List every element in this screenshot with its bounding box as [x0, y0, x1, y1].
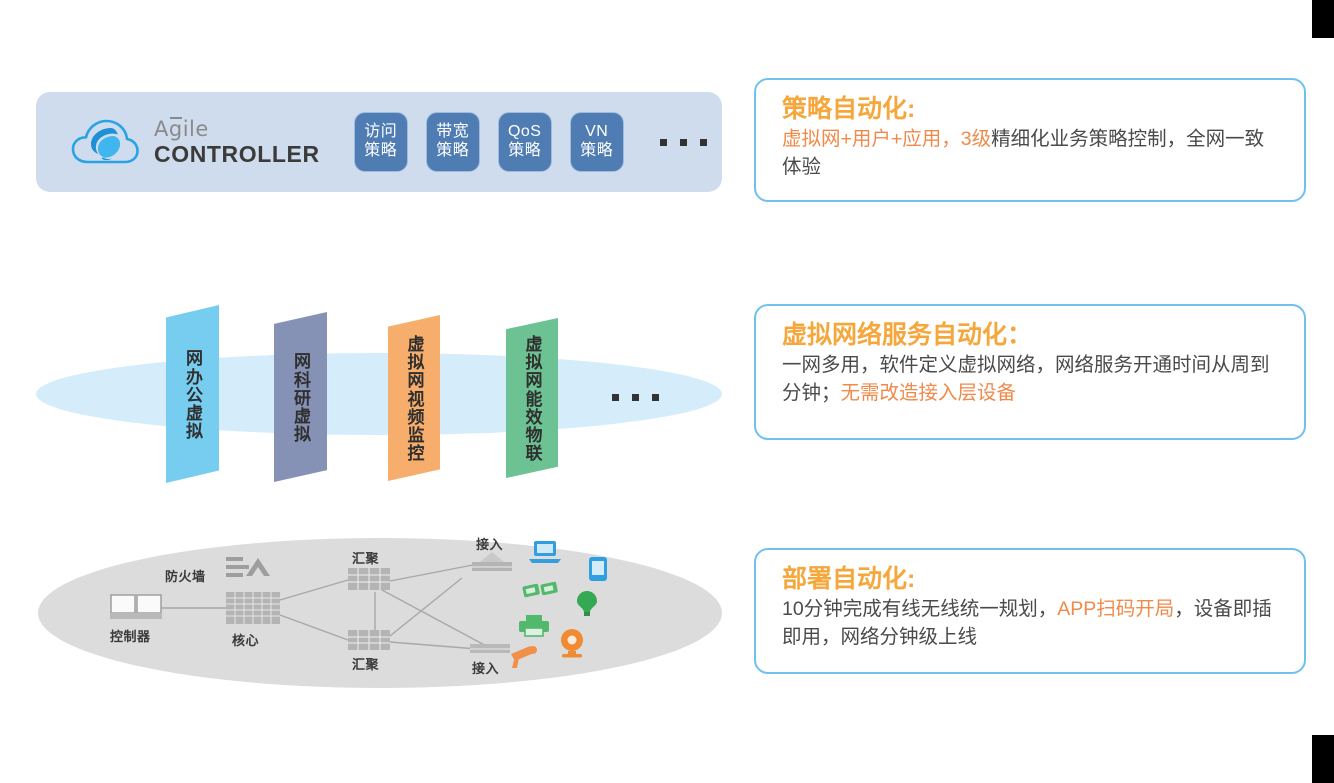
ap-icon: [522, 578, 562, 607]
controller-node-label: 控制器: [110, 626, 151, 645]
vn-slab-research: 科研虚拟 网: [274, 312, 327, 482]
policy-chip-bandwidth-line2: 策略: [436, 142, 469, 161]
card-policy-automation: 策略自动化: 虚拟网+用户+应用，3级精细化业务策略控制，全网一致体验: [754, 78, 1306, 202]
card-deployment-automation-title: 部署自动化:: [782, 564, 1282, 594]
access-node-lower-label: 接入: [472, 658, 499, 677]
policy-chip-qos-line1: QoS: [508, 123, 542, 142]
policy-chip-bandwidth-line1: 带宽: [436, 123, 469, 142]
policy-chip-access[interactable]: 访问 策略: [354, 112, 408, 172]
aggregation-node-upper: [348, 568, 390, 595]
agile-controller-logo: Agile CONTROLLER: [70, 116, 320, 168]
cctv-icon: [506, 644, 538, 675]
policy-chip-vn-line2: 策略: [580, 142, 613, 161]
card-policy-automation-title: 策略自动化:: [782, 94, 1282, 124]
ellipsis-dot: [632, 394, 639, 401]
vn-slab-iot-label: 能效物联 虚拟网: [506, 318, 558, 478]
vn-slab-video: 视频监控 虚拟网: [388, 315, 440, 481]
card-policy-automation-highlight: 虚拟网+用户+应用，3级: [782, 128, 991, 150]
ellipsis-dot: [700, 139, 707, 146]
aggregation-node-lower: [348, 630, 390, 655]
vn-slab-office: 办公虚拟 网: [166, 305, 219, 483]
controller-node: [110, 594, 162, 627]
card-deployment-automation: 部署自动化: 10分钟完成有线无线统一规划，APP扫码开局，设备即插即用，网络分…: [754, 548, 1306, 674]
webcam-icon: [558, 628, 586, 663]
slide-edge-bottom: [1312, 735, 1334, 783]
printer-icon: [518, 614, 550, 643]
card-policy-automation-body: 虚拟网+用户+应用，3级精细化业务策略控制，全网一致体验: [782, 126, 1282, 181]
card-vn-service-automation-highlight: 无需改造接入层设备: [841, 382, 1017, 404]
policy-chip-access-line1: 访问: [364, 123, 397, 142]
virtual-network-ellipsis: [612, 394, 659, 401]
aggregation-node-lower-label: 汇聚: [352, 654, 379, 673]
ellipsis-dot: [612, 394, 619, 401]
vn-slab-research-label-col1: 科研虚拟: [288, 371, 313, 443]
card-deployment-automation-body: 10分钟完成有线无线统一规划，APP扫码开局，设备即插即用，网络分钟级上线: [782, 596, 1282, 651]
slide-edge-top: [1312, 0, 1334, 38]
card-deployment-automation-lead: 10分钟完成有线无线统一规划，: [782, 598, 1057, 620]
cloud-swirl-icon: [70, 116, 140, 168]
vn-slab-research-label-col2: 网: [288, 352, 313, 370]
vn-slab-office-label-col1: 办公虚拟: [180, 368, 205, 440]
card-vn-service-automation: 虚拟网络服务自动化： 一网多用，软件定义虚拟网络，网络服务开通时间从周到分钟；无…: [754, 304, 1306, 440]
vn-slab-iot-label-col2: 虚拟网: [520, 335, 545, 389]
policy-chip-group: 访问 策略 带宽 策略 QoS 策略 VN 策略: [354, 112, 707, 172]
firewall-node-label: 防火墙: [165, 566, 206, 585]
policy-chip-access-line2: 策略: [364, 142, 397, 161]
ellipsis-dot: [680, 139, 687, 146]
aggregation-node-upper-label: 汇聚: [352, 548, 379, 567]
ellipsis-dot: [660, 139, 667, 146]
vn-slab-iot-label-col1: 能效物联: [520, 390, 545, 462]
laptop-icon: [528, 540, 562, 571]
policy-chip-qos-line2: 策略: [508, 142, 541, 161]
vn-slab-video-label: 视频监控 虚拟网: [388, 315, 440, 481]
core-node: [226, 592, 280, 629]
vn-slab-iot: 能效物联 虚拟网: [506, 318, 558, 478]
logo-brand-bottom: CONTROLLER: [154, 143, 320, 166]
agile-controller-panel: Agile CONTROLLER 访问 策略 带宽 策略 QoS 策略 VN 策…: [36, 92, 722, 192]
vn-slab-research-label: 科研虚拟 网: [274, 312, 327, 482]
access-node-upper: [470, 552, 514, 577]
policy-chip-vn-line1: VN: [585, 123, 608, 142]
vn-slab-office-label-col2: 网: [180, 349, 205, 367]
card-vn-service-automation-title: 虚拟网络服务自动化：: [782, 320, 1282, 350]
ellipsis-dot: [652, 394, 659, 401]
card-vn-service-automation-body: 一网多用，软件定义虚拟网络，网络服务开通时间从周到分钟；无需改造接入层设备: [782, 352, 1282, 407]
core-node-label: 核心: [232, 630, 259, 649]
tablet-icon: [588, 556, 608, 587]
firewall-node: [226, 554, 270, 589]
policy-chip-vn[interactable]: VN 策略: [570, 112, 624, 172]
lightbulb-icon: [576, 590, 598, 623]
policy-chip-bandwidth[interactable]: 带宽 策略: [426, 112, 480, 172]
access-node-upper-label: 接入: [476, 534, 503, 553]
card-deployment-automation-highlight: APP扫码开局: [1057, 598, 1174, 620]
network-topology-diagram: 控制器 防火墙 核心: [0, 520, 740, 700]
policy-chip-ellipsis: [660, 139, 707, 146]
policy-chip-qos[interactable]: QoS 策略: [498, 112, 552, 172]
vn-slab-video-label-col2: 虚拟网: [402, 335, 427, 389]
logo-brand-top: Agile: [154, 119, 320, 140]
vn-slab-office-label: 办公虚拟 网: [166, 305, 219, 483]
vn-slab-video-label-col1: 视频监控: [402, 390, 427, 462]
